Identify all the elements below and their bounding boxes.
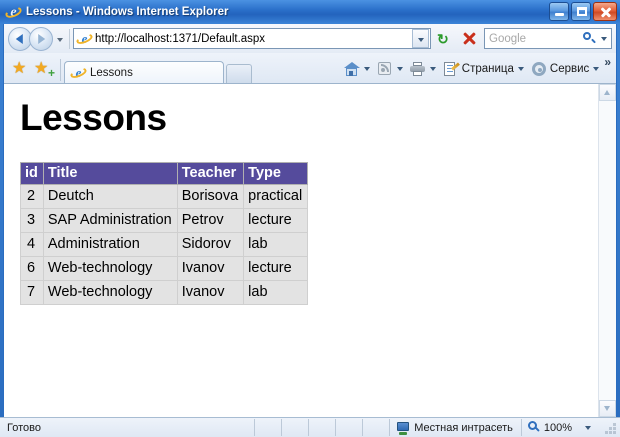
maximize-icon xyxy=(572,3,590,20)
search-button[interactable] xyxy=(579,29,598,48)
search-icon xyxy=(583,32,591,40)
feeds-chevron-down-icon[interactable] xyxy=(397,67,403,71)
zoom-icon xyxy=(528,421,541,434)
cell-teacher: Borisova xyxy=(177,185,243,209)
cell-id: 3 xyxy=(21,209,44,233)
address-bar: e http://localhost:1371/Default.aspx ↻ G… xyxy=(4,24,616,53)
column-header-teacher[interactable]: Teacher xyxy=(177,163,243,185)
tools-chevron-down-icon[interactable] xyxy=(593,67,599,71)
browser-window: e Lessons - Windows Internet Explorer e … xyxy=(0,0,620,437)
favorites-buttons: ★ ★ + xyxy=(7,54,56,83)
forward-arrow-icon xyxy=(38,34,45,44)
refresh-icon: ↻ xyxy=(437,32,451,46)
address-url-text: http://localhost:1371/Default.aspx xyxy=(95,33,412,45)
scrollbar-track[interactable] xyxy=(599,101,616,400)
page-favicon-icon: e xyxy=(77,32,92,46)
plus-icon: + xyxy=(48,68,55,78)
status-cell xyxy=(362,419,389,436)
minimize-button[interactable] xyxy=(549,2,569,21)
cell-id: 6 xyxy=(21,257,44,281)
table-row: 4 Administration Sidorov lab xyxy=(21,233,308,257)
tools-menu-button[interactable]: Сервис xyxy=(527,58,602,80)
star-icon: ★ xyxy=(12,62,26,76)
status-cell xyxy=(281,419,308,436)
cell-type: practical xyxy=(244,185,308,209)
zoom-level-label: 100% xyxy=(544,422,572,434)
feeds-button[interactable] xyxy=(373,58,406,80)
title-bar: e Lessons - Windows Internet Explorer xyxy=(0,0,620,24)
forward-button[interactable] xyxy=(29,27,53,51)
table-body: 2 Deutch Borisova practical 3 SAP Admini… xyxy=(21,185,308,305)
print-chevron-down-icon[interactable] xyxy=(430,67,436,71)
cell-teacher: Petrov xyxy=(177,209,243,233)
status-text: Готово xyxy=(1,422,41,434)
security-zone[interactable]: Местная интрасеть xyxy=(389,419,521,436)
stop-button[interactable] xyxy=(458,28,481,50)
add-to-favorites-button[interactable]: ★ + xyxy=(34,61,50,77)
toolbar-divider xyxy=(69,29,70,49)
window-controls xyxy=(549,2,617,21)
page-icon xyxy=(442,61,459,77)
cell-id: 4 xyxy=(21,233,44,257)
table-row: 2 Deutch Borisova practical xyxy=(21,185,308,209)
page-menu-label: Страница xyxy=(462,63,514,75)
internet-explorer-icon: e xyxy=(6,5,21,20)
tab-label: Lessons xyxy=(90,67,133,79)
scroll-up-button[interactable] xyxy=(599,84,616,101)
security-zone-label: Местная интрасеть xyxy=(414,422,513,434)
close-icon xyxy=(594,3,616,20)
cell-type: lecture xyxy=(244,257,308,281)
cell-type: lab xyxy=(244,281,308,305)
status-bar: Готово Местная интрасеть 100% xyxy=(0,417,620,437)
page-chevron-down-icon[interactable] xyxy=(518,67,524,71)
browser-chrome: e http://localhost:1371/Default.aspx ↻ G… xyxy=(3,24,617,417)
column-header-id[interactable]: id xyxy=(21,163,44,185)
vertical-scrollbar[interactable] xyxy=(598,84,616,417)
status-cell xyxy=(308,419,335,436)
page-menu-button[interactable]: Страница xyxy=(439,58,527,80)
cell-title: Web-technology xyxy=(43,281,177,305)
tab-favicon-icon: e xyxy=(71,66,86,80)
search-provider-dropdown[interactable] xyxy=(598,29,610,48)
command-overflow-icon[interactable]: » xyxy=(604,55,611,69)
back-arrow-icon xyxy=(16,34,23,44)
tab-bar: ★ ★ + e Lessons xyxy=(4,53,616,84)
minimize-icon xyxy=(550,3,568,20)
cell-id: 2 xyxy=(21,185,44,209)
printer-icon xyxy=(409,61,426,77)
star-plus-icon: ★ xyxy=(34,62,48,76)
zoom-chevron-down-icon[interactable] xyxy=(585,426,591,430)
column-header-title[interactable]: Title xyxy=(43,163,177,185)
cell-teacher: Ivanov xyxy=(177,257,243,281)
search-input[interactable]: Google xyxy=(484,28,612,49)
cell-title: Administration xyxy=(43,233,177,257)
gear-icon xyxy=(530,61,547,77)
search-placeholder-text: Google xyxy=(489,33,579,45)
cell-teacher: Ivanov xyxy=(177,281,243,305)
cell-id: 7 xyxy=(21,281,44,305)
recent-pages-dropdown[interactable] xyxy=(54,29,65,49)
table-row: 3 SAP Administration Petrov lecture xyxy=(21,209,308,233)
cell-title: SAP Administration xyxy=(43,209,177,233)
print-button[interactable] xyxy=(406,58,439,80)
favorites-center-button[interactable]: ★ xyxy=(12,61,28,77)
refresh-button[interactable]: ↻ xyxy=(433,28,456,50)
scroll-down-button[interactable] xyxy=(599,400,616,417)
rss-feed-icon xyxy=(376,61,393,77)
cell-type: lab xyxy=(244,233,308,257)
page-title: Lessons xyxy=(20,98,598,138)
new-tab-button[interactable] xyxy=(226,64,252,83)
status-cell xyxy=(254,419,281,436)
table-row: 7 Web-technology Ivanov lab xyxy=(21,281,308,305)
window-title: Lessons - Windows Internet Explorer xyxy=(26,6,228,18)
table-head: id Title Teacher Type xyxy=(21,163,308,185)
column-header-type[interactable]: Type xyxy=(244,163,308,185)
cell-title: Deutch xyxy=(43,185,177,209)
table-header-row: id Title Teacher Type xyxy=(21,163,308,185)
cell-teacher: Sidorov xyxy=(177,233,243,257)
table-row: 6 Web-technology Ivanov lecture xyxy=(21,257,308,281)
tools-menu-label: Сервис xyxy=(550,63,589,75)
home-icon xyxy=(343,61,360,77)
cell-type: lecture xyxy=(244,209,308,233)
status-cell xyxy=(335,419,362,436)
lessons-table: id Title Teacher Type 2 Deutch Borisova … xyxy=(20,162,308,305)
address-dropdown-button[interactable] xyxy=(412,29,429,48)
zoom-control[interactable]: 100% xyxy=(521,419,603,436)
cell-title: Web-technology xyxy=(43,257,177,281)
tab-lessons[interactable]: e Lessons xyxy=(64,61,224,83)
close-button[interactable] xyxy=(593,2,617,21)
address-input[interactable]: e http://localhost:1371/Default.aspx xyxy=(73,28,431,49)
page-content: Lessons id Title Teacher Type 2 Deu xyxy=(4,84,598,417)
command-bar: Страница Сервис » xyxy=(340,54,613,83)
tab-divider xyxy=(60,59,61,81)
home-chevron-down-icon[interactable] xyxy=(364,67,370,71)
intranet-zone-icon xyxy=(396,421,410,435)
stop-icon xyxy=(462,31,477,46)
resize-grip[interactable] xyxy=(603,421,617,435)
maximize-button[interactable] xyxy=(571,2,591,21)
page-viewport: Lessons id Title Teacher Type 2 Deu xyxy=(4,84,616,417)
home-button[interactable] xyxy=(340,58,373,80)
